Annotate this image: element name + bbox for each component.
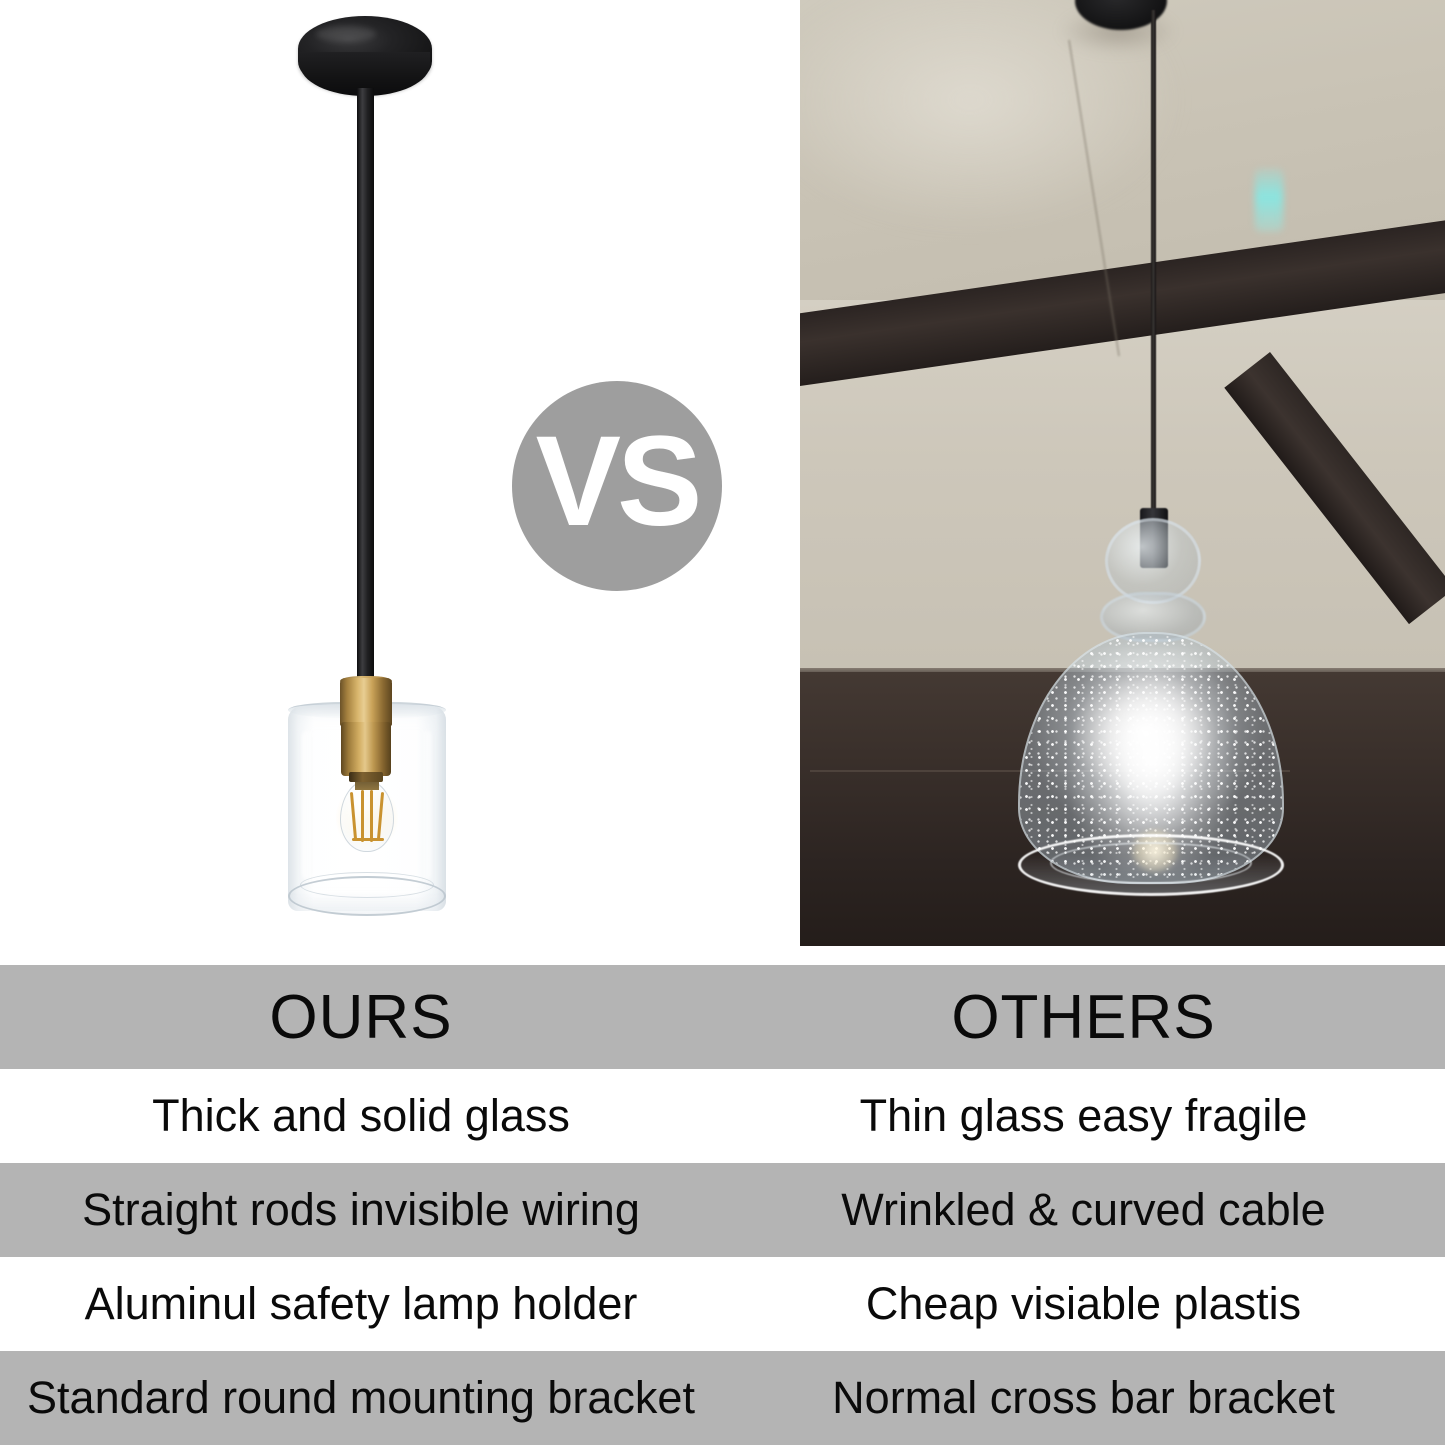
ours-feature: Aluminul safety lamp holder bbox=[0, 1278, 722, 1330]
ours-feature: Straight rods invisible wiring bbox=[0, 1184, 722, 1236]
brass-holder-neck bbox=[349, 772, 383, 782]
brass-holder-upper bbox=[340, 678, 392, 726]
others-feature: Wrinkled & curved cable bbox=[722, 1184, 1445, 1236]
glass-highlight-right bbox=[421, 730, 431, 880]
hanging-cable bbox=[1151, 10, 1156, 520]
glass-highlight-left bbox=[302, 730, 315, 880]
glass-shade-inner-rim bbox=[300, 872, 434, 898]
cyan-reflection bbox=[1255, 168, 1283, 232]
others-feature: Thin glass easy fragile bbox=[722, 1090, 1445, 1142]
table-row: Standard round mounting bracket Normal c… bbox=[0, 1351, 1445, 1445]
others-product-image bbox=[800, 0, 1445, 946]
table-row: Thick and solid glass Thin glass easy fr… bbox=[0, 1069, 1445, 1163]
pendant-rod bbox=[357, 88, 374, 688]
others-feature: Normal cross bar bracket bbox=[722, 1372, 1445, 1424]
canopy-highlight bbox=[316, 26, 376, 42]
ours-feature: Thick and solid glass bbox=[0, 1090, 722, 1142]
filament-strand bbox=[370, 790, 373, 842]
vs-badge: VS bbox=[512, 381, 722, 591]
edison-bulb-icon bbox=[340, 780, 394, 852]
ours-feature: Standard round mounting bracket bbox=[0, 1372, 722, 1424]
table-row: Aluminul safety lamp holder Cheap visiab… bbox=[0, 1257, 1445, 1351]
table-header-row: OURS OTHERS bbox=[0, 965, 1445, 1069]
column-header-others: OTHERS bbox=[722, 982, 1445, 1053]
table-row: Straight rods invisible wiring Wrinkled … bbox=[0, 1163, 1445, 1257]
others-feature: Cheap visiable plastis bbox=[722, 1278, 1445, 1330]
vs-badge-label: VS bbox=[536, 418, 699, 546]
filament-strand bbox=[361, 790, 364, 842]
shade-inner-rim bbox=[1050, 842, 1252, 884]
brass-holder-lower bbox=[341, 722, 391, 776]
filament-crossbar bbox=[352, 838, 384, 841]
column-header-ours: OURS bbox=[0, 982, 722, 1053]
comparison-table: OURS OTHERS Thick and solid glass Thin g… bbox=[0, 965, 1445, 1445]
comparison-hero: VS bbox=[0, 0, 1445, 965]
